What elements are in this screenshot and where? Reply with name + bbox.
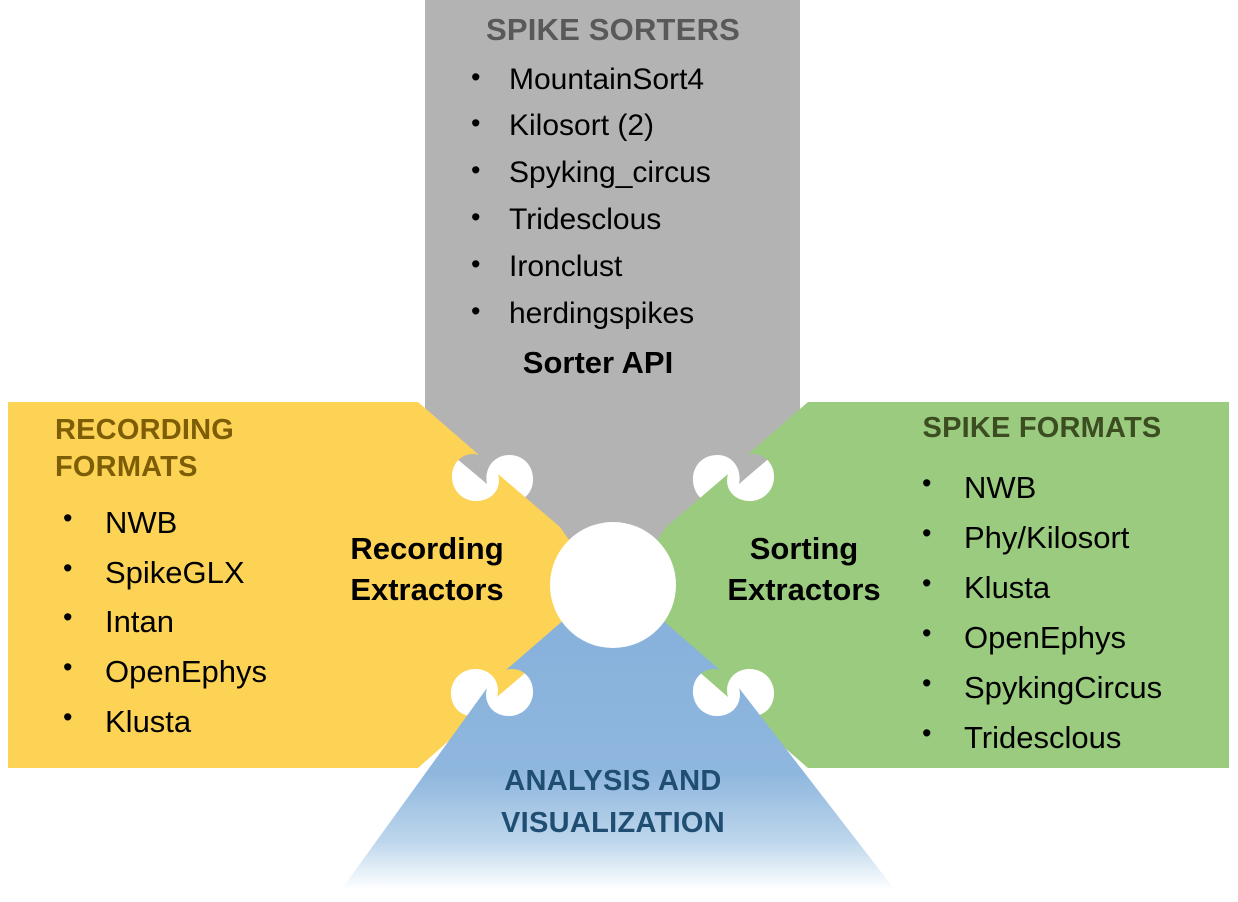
recording-formats-heading: RECORDING FORMATS [55, 412, 385, 486]
spike-formats-heading: SPIKE FORMATS [860, 412, 1230, 445]
analysis-heading-line2: VISUALIZATION [413, 803, 813, 845]
list-item: OpenEphys [914, 613, 1230, 663]
spike-sorters-list: MountainSort4 Kilosort (2) Spyking_circu… [425, 57, 801, 338]
spike-formats-list: NWB Phy/Kilosort Klusta OpenEphys Spykin… [860, 463, 1230, 762]
sorting-extractors-line1: Sorting [688, 528, 920, 569]
list-item: Kilosort (2) [463, 103, 801, 150]
spike-sorters-block: SPIKE SORTERS MountainSort4 Kilosort (2)… [425, 14, 801, 381]
sorting-extractors-line2: Extractors [688, 569, 920, 610]
diagram-canvas: SPIKE SORTERS MountainSort4 Kilosort (2)… [0, 0, 1238, 902]
recording-extractors-line2: Extractors [308, 569, 546, 610]
list-item: MountainSort4 [463, 57, 801, 104]
list-item: Klusta [914, 563, 1230, 613]
analysis-visualization-block: ANALYSIS AND VISUALIZATION [413, 761, 813, 845]
list-item: Spyking_circus [463, 150, 801, 197]
list-item: Tridesclous [914, 713, 1230, 763]
sorting-extractors-label: Sorting Extractors [688, 528, 920, 610]
list-item: NWB [914, 463, 1230, 513]
recording-extractors-line1: Recording [308, 528, 546, 569]
recording-formats-heading-line2: FORMATS [55, 449, 385, 486]
recording-extractors-label: Recording Extractors [308, 528, 546, 610]
spike-sorters-heading: SPIKE SORTERS [425, 14, 801, 47]
list-item: Phy/Kilosort [914, 513, 1230, 563]
analysis-heading-line1: ANALYSIS AND [413, 761, 813, 803]
list-item: herdingspikes [463, 291, 801, 338]
list-item: Tridesclous [463, 197, 801, 244]
list-item: Ironclust [463, 244, 801, 291]
list-item: SpykingCircus [914, 663, 1230, 713]
list-item: OpenEphys [55, 647, 385, 697]
list-item: Klusta [55, 697, 385, 747]
sorter-api-label: Sorter API [425, 345, 801, 381]
recording-formats-heading-line1: RECORDING [55, 412, 385, 449]
